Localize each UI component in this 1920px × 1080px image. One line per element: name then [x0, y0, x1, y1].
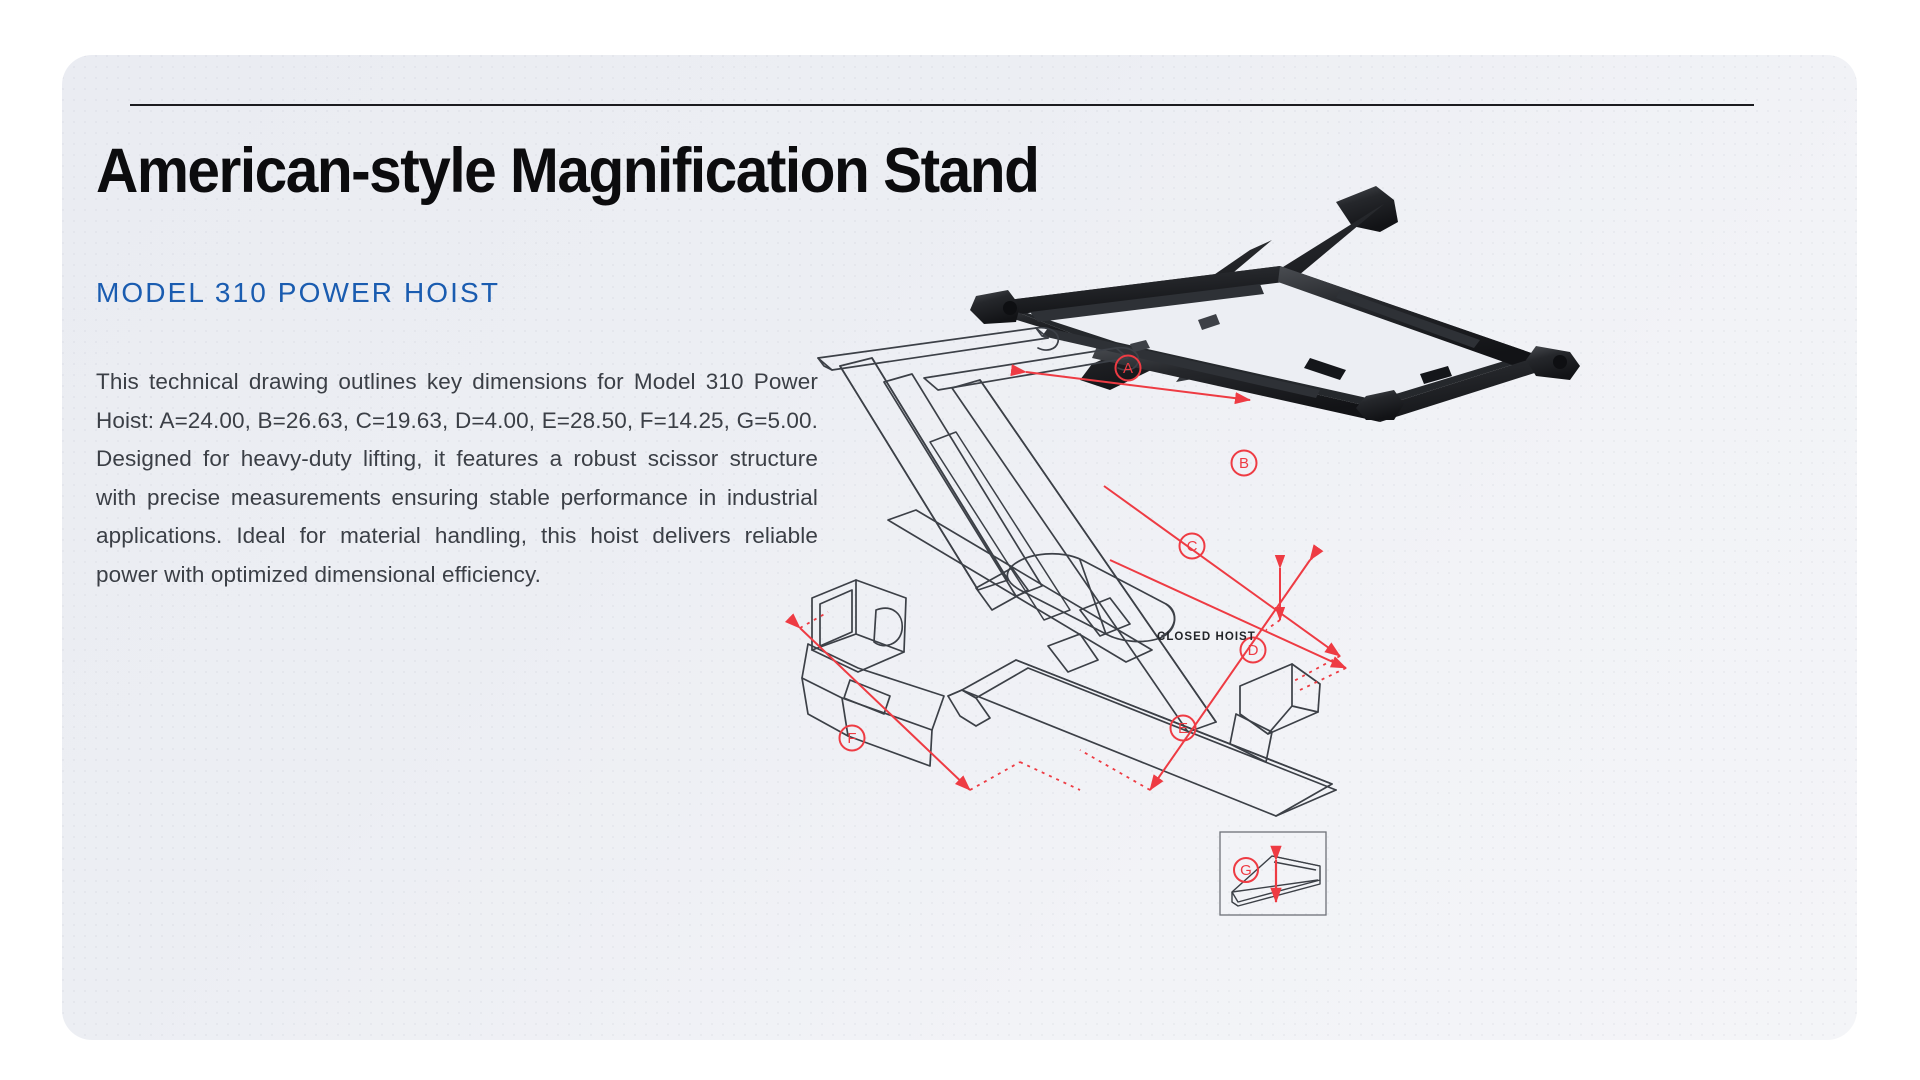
svg-text:G: G: [1240, 862, 1252, 879]
technical-drawing: A B C D E: [780, 90, 1790, 970]
model-subtitle: MODEL 310 POWER HOIST: [96, 277, 500, 309]
svg-text:A: A: [1123, 360, 1133, 377]
svg-text:B: B: [1239, 455, 1249, 472]
marker-e: E: [1171, 716, 1196, 741]
hoist-lineart: [802, 328, 1336, 816]
svg-text:D: D: [1248, 642, 1259, 659]
svg-text:E: E: [1178, 720, 1188, 737]
svg-text:F: F: [847, 730, 856, 747]
marker-b: B: [1232, 451, 1257, 476]
marker-c: C: [1180, 534, 1205, 559]
dimension-line-e: [1150, 560, 1310, 790]
closed-hoist-inset: G: [1220, 832, 1326, 915]
hoist-photo: [970, 186, 1580, 422]
svg-text:C: C: [1187, 538, 1198, 555]
description-paragraph: This technical drawing outlines key dime…: [96, 363, 818, 594]
closed-hoist-label: CLOSED HOIST: [1157, 631, 1256, 643]
dimension-line-f: [800, 628, 970, 790]
marker-g: G: [1234, 858, 1258, 882]
marker-f: F: [840, 726, 865, 751]
page-root: American-style Magnification Stand MODEL…: [0, 0, 1920, 1080]
